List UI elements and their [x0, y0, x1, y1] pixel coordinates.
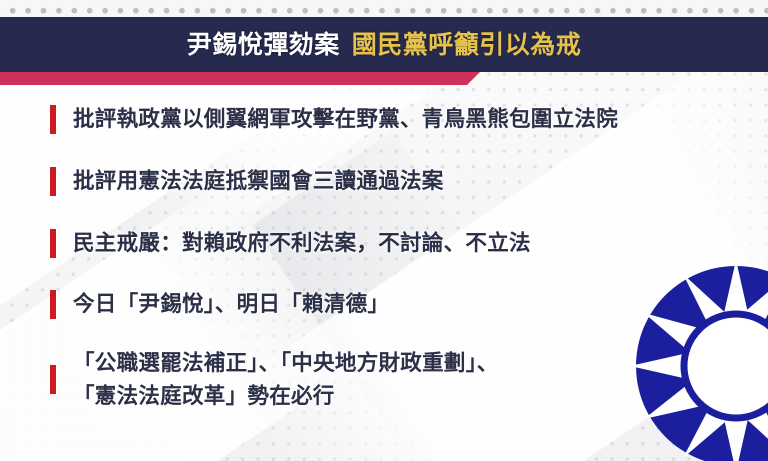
list-item-text: 「公職選罷法補正」、「中央地方財政重劃」、 「憲法法庭改革」勢在必行 — [73, 347, 499, 414]
top-dot-strip — [0, 0, 768, 17]
list-item: 「公職選罷法補正」、「中央地方財政重劃」、 「憲法法庭改革」勢在必行 — [50, 347, 499, 414]
header-bar: 尹錫悅彈劾案國民黨呼籲引以為戒 — [0, 17, 768, 72]
bullet-list: 批評執政黨以側翼網軍攻擊在野黨、青鳥黑熊包圍立法院 批評用憲法法庭抵禦國會三讀通… — [0, 85, 768, 461]
top-dot-strip-pattern — [0, 0, 768, 17]
list-item-text: 民主戒嚴：對賴政府不利法案，不討論、不立法 — [73, 227, 531, 260]
page-title: 尹錫悅彈劾案國民黨呼籲引以為戒 — [187, 32, 582, 57]
page-title-primary: 尹錫悅彈劾案 — [187, 30, 340, 59]
list-item-text: 批評用憲法法庭抵禦國會三讀通過法案 — [73, 165, 444, 198]
bullet-marker-icon — [50, 105, 56, 134]
list-item: 批評執政黨以側翼網軍攻擊在野黨、青鳥黑熊包圍立法院 — [50, 103, 618, 136]
bullet-marker-icon — [50, 290, 56, 319]
header-accent-bar — [0, 72, 480, 85]
page-title-highlight: 國民黨呼籲引以為戒 — [352, 30, 582, 59]
list-item: 民主戒嚴：對賴政府不利法案，不討論、不立法 — [50, 227, 531, 260]
list-item-text: 批評執政黨以側翼網軍攻擊在野黨、青鳥黑熊包圍立法院 — [73, 103, 618, 136]
bullet-marker-icon — [50, 229, 56, 258]
bullet-marker-icon — [50, 365, 56, 394]
list-item: 批評用憲法法庭抵禦國會三讀通過法案 — [50, 165, 444, 198]
list-item: 今日「尹錫悅」、明日「賴清德」 — [50, 288, 389, 321]
bullet-marker-icon — [50, 167, 56, 196]
list-item-text: 今日「尹錫悅」、明日「賴清德」 — [73, 288, 389, 321]
broadcast-graphic: 尹錫悅彈劾案國民黨呼籲引以為戒 批評執政黨以側翼網軍攻擊在野黨、青鳥黑熊包圍立法… — [0, 0, 768, 461]
